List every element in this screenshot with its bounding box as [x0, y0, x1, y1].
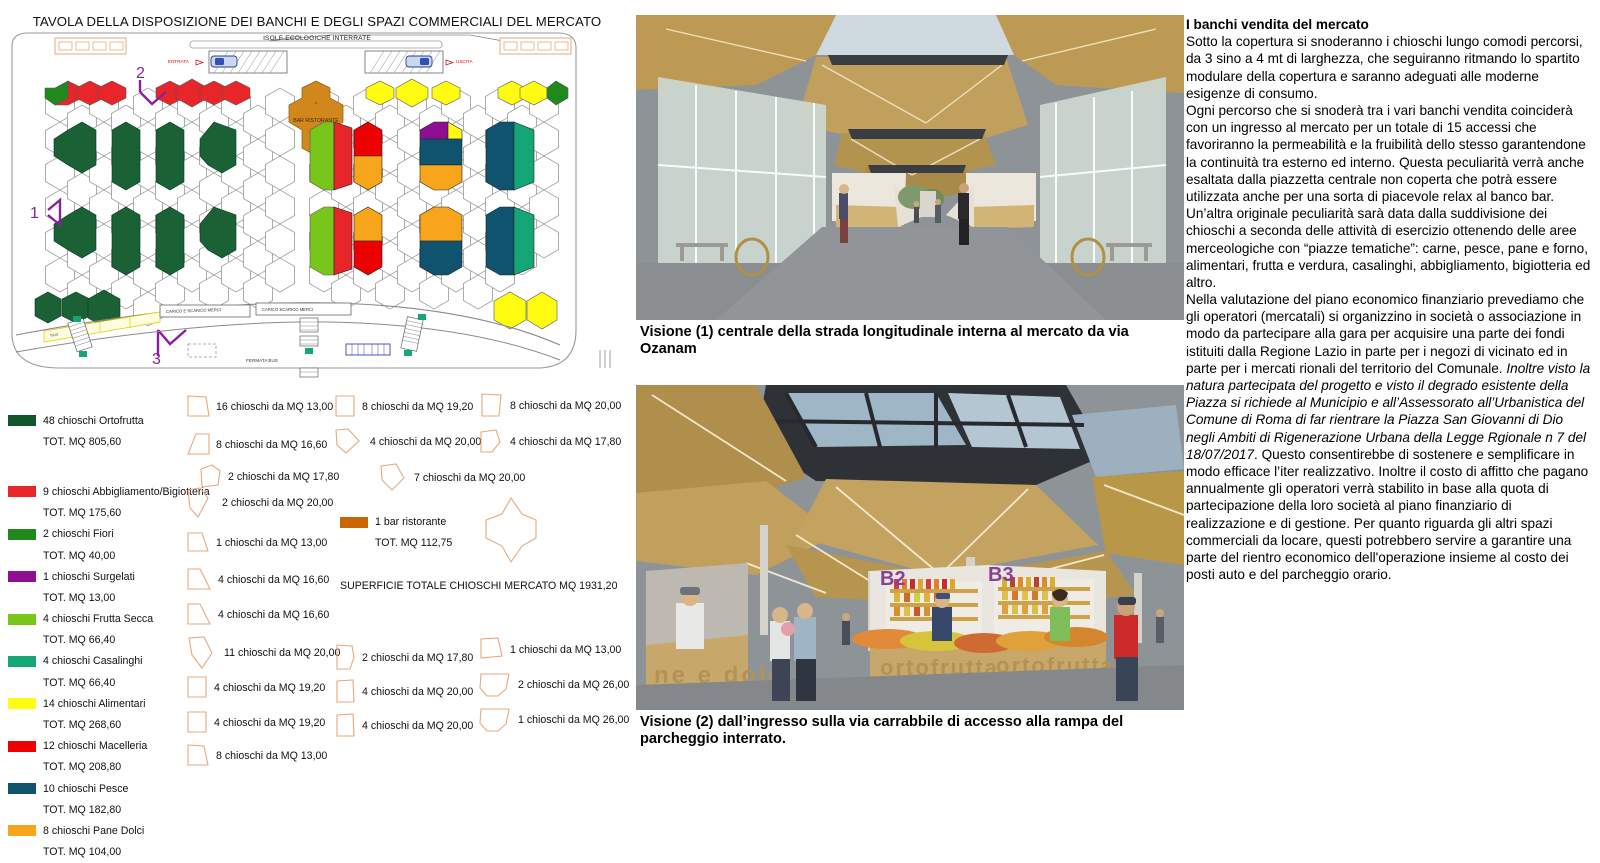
kiosk-cluster-macelleria-pane-1: [354, 122, 382, 190]
legend-total: TOT. MQ 66,40: [8, 672, 188, 693]
legend-item: 4 chioschi Casalinghi: [8, 651, 188, 672]
shape-entry-a4: 4 chioschi da MQ 16,60: [186, 567, 329, 593]
person-figure-far: [1156, 609, 1164, 643]
shape-label: 8 chioschi da MQ 19,20: [362, 401, 473, 413]
shape-label: 8 chioschi da MQ 16,60: [216, 439, 327, 451]
section-marker-3-label: 3: [152, 351, 161, 368]
legend-label: 14 chioschi Alimentari: [43, 698, 145, 710]
area-tratteggiata: [188, 344, 216, 357]
legend-label: 9 chioschi Abbigliamento/Bigiotteria: [43, 486, 210, 498]
shape-label: 4 chioschi da MQ 16,60: [218, 609, 329, 621]
legend-item: 2 chioschi Fiori: [8, 524, 188, 545]
color-swatch-casalinghi: [8, 656, 36, 667]
shape-label: 2 chioschi da MQ 20,00: [222, 497, 333, 509]
person-figure: [914, 201, 920, 223]
color-swatch-fiori: [8, 529, 36, 540]
rampa-entrata: ENTRATA: [168, 51, 287, 73]
legend-total: TOT. MQ 175,60: [8, 503, 188, 524]
shape-label: 1 chioschi da MQ 26,00: [518, 714, 629, 726]
pensilina-bus: [346, 344, 390, 355]
legend-total: TOT. MQ 13,00: [8, 587, 188, 608]
legend-item: 9 chioschi Abbigliamento/Bigiotteria: [8, 481, 188, 502]
shape-label: 2 chioschi da MQ 17,80: [362, 652, 473, 664]
legend-total: TOT. MQ 40,00: [8, 545, 188, 566]
section-marker-2-label: 2: [136, 65, 145, 82]
section-marker-3: [158, 330, 186, 356]
shape-label: 4 chioschi da MQ 20,00: [362, 686, 473, 698]
article-paragraph-2: Ogni percorso che si snoderà tra i vari …: [1186, 102, 1592, 291]
kiosk-cluster-surgelati-pesce-1: [420, 122, 462, 190]
color-swatch-surgelati: [8, 571, 36, 582]
legend-total: TOT. MQ 182,80: [8, 799, 188, 820]
color-swatch-macelleria: [8, 741, 36, 752]
section-marker-1-label: 1: [30, 205, 39, 222]
shape-entry-a7: 4 chioschi da MQ 19,20: [186, 675, 325, 701]
superficie-totale-label: SUPERFICIE TOTALE CHIOSCHI MERCATO MQ 19…: [340, 580, 617, 592]
color-swatch-abbigliamento: [8, 486, 36, 497]
shape-label: 8 chioschi da MQ 13,00: [216, 750, 327, 762]
svg-text:ENTRATA: ENTRATA: [168, 59, 190, 64]
shape-label: 7 chioschi da MQ 20,00: [414, 472, 525, 484]
color-swatch-pesce: [8, 783, 36, 794]
color-swatch-pane-dolci: [8, 825, 36, 836]
shape-label: 4 chioschi da MQ 17,80: [510, 436, 621, 448]
shape-label: 11 chioschi da MQ 20,00: [224, 647, 340, 659]
shape-entry-a6: 11 chioschi da MQ 20,00: [186, 635, 340, 671]
scala-est: [401, 314, 426, 356]
renderings-panel: Visione (1) centrale della strada longit…: [636, 0, 1186, 800]
svg-text:USCITA: USCITA: [456, 59, 473, 64]
shape-entry-c0: 8 chioschi da MQ 20,00: [478, 392, 621, 420]
kiosk-cluster-alimentari-se: [494, 292, 557, 329]
legend-label: 8 chioschi Pane Dolci: [43, 825, 144, 837]
person-figure-far: [842, 613, 850, 645]
sign-b2: B2: [880, 568, 906, 590]
article-panel: I banchi vendita del mercato Sotto la co…: [1186, 16, 1592, 583]
svg-text:CARICO SCARICO MERCI: CARICO SCARICO MERCI: [262, 307, 313, 312]
shape-label: 4 chioschi da MQ 20,00: [362, 720, 473, 732]
rendering-image-1: [636, 15, 1184, 320]
legend-label: 12 chioschi Macelleria: [43, 740, 147, 752]
legend-item: 10 chioschi Pesce: [8, 778, 188, 799]
legend-total: TOT. MQ 104,00: [8, 842, 188, 863]
article-p3-part-b: . Questo consentirebbe di sostenere e se…: [1186, 447, 1588, 582]
shape-label: 4 chioschi da MQ 19,20: [214, 717, 325, 729]
shape-entry-b2: 2 chioschi da MQ 17,80: [198, 463, 339, 491]
article-paragraph-3: Nella valutazione del piano economico fi…: [1186, 291, 1592, 583]
shape-label: 16 chioschi da MQ 13,00: [216, 401, 333, 413]
kiosk-cluster-pane-pesce-2: [420, 207, 462, 275]
isola-ecologica-ovest: [55, 38, 126, 54]
kiosk-cluster-fruttasecca-red-1: [310, 122, 352, 190]
legend-label: 4 chioschi Frutta Secca: [43, 613, 153, 625]
legend-item: 12 chioschi Macelleria: [8, 736, 188, 757]
shape-entry-a9: 8 chioschi da MQ 13,00: [186, 743, 327, 769]
shape-entry-a1: 8 chioschi da MQ 16,60: [186, 432, 327, 458]
legend-label: 1 bar ristorante: [375, 516, 446, 528]
shape-entry-b0: 8 chioschi da MQ 19,20: [334, 394, 473, 420]
color-swatch-ortofrutta: [8, 415, 36, 426]
shape-label: 4 chioschi da MQ 19,20: [214, 682, 325, 694]
shape-entry-a0: 16 chioschi da MQ 13,00: [186, 394, 333, 420]
kiosk-cluster-fruttasecca-red-2: [310, 207, 352, 275]
color-swatch-frutta-secca: [8, 614, 36, 625]
sign-b3: B3: [988, 564, 1014, 586]
scala-centrale: [300, 318, 318, 377]
shape-entry-c1: 4 chioschi da MQ 17,80: [478, 428, 621, 456]
legend-item: 48 chioschi Ortofrutta: [8, 410, 188, 431]
legend-total-bar: TOT. MQ 112,75: [375, 537, 452, 549]
shape-entry-b5: 4 chioschi da MQ 20,00: [334, 712, 473, 740]
legend-panel: 48 chioschi Ortofrutta TOT. MQ 805,60 9 …: [0, 390, 634, 800]
shape-label: 8 chioschi da MQ 20,00: [510, 400, 621, 412]
kiosk-cluster-pesce-casalinghi-2: [486, 207, 534, 275]
shape-entry-a2: 2 chioschi da MQ 20,00: [186, 486, 333, 520]
isola-ecologica-est: [500, 38, 571, 54]
shape-label: 1 chioschi da MQ 13,00: [510, 644, 621, 656]
rampa-uscita: USCITA: [365, 51, 473, 73]
article-heading: I banchi vendita del mercato: [1186, 16, 1592, 33]
legend-item: 1 chioschi Surgelati: [8, 566, 188, 587]
rendering-1-caption: Visione (1) centrale della strada longit…: [640, 324, 1185, 358]
shape-label: 2 chioschi da MQ 17,80: [228, 471, 339, 483]
legend-label: 1 chioschi Surgelati: [43, 571, 135, 583]
legend-categories: 48 chioschi Ortofrutta TOT. MQ 805,60 9 …: [8, 410, 188, 863]
shape-label: 4 chioschi da MQ 16,60: [218, 574, 329, 586]
legend-item: 4 chioschi Frutta Secca: [8, 609, 188, 630]
shape-label: 1 chioschi da MQ 13,00: [216, 537, 327, 549]
legend-item: 14 chioschi Alimentari: [8, 693, 188, 714]
shape-label: 4 chioschi da MQ 20,00: [370, 436, 481, 448]
shape-entry-b3: 2 chioschi da MQ 17,80: [334, 643, 473, 673]
shape-entry-a8: 4 chioschi da MQ 19,20: [186, 710, 325, 736]
shape-entry-c2: 7 chioschi da MQ 20,00: [378, 462, 525, 494]
legend-item-bar-ristorante: 1 bar ristorante: [340, 516, 446, 528]
shape-entry-a3: 1 chioschi da MQ 13,00: [186, 531, 327, 555]
legend-label: 4 chioschi Casalinghi: [43, 655, 143, 667]
shape-entry-b4: 4 chioschi da MQ 20,00: [334, 678, 473, 706]
legend-label: 48 chioschi Ortofrutta: [43, 415, 144, 427]
fermata-bus-label: FERMATA BUS: [246, 358, 278, 363]
plan-panel: TAVOLA DELLA DISPOSIZIONE DEI BANCHI E D…: [0, 0, 634, 800]
legend-item: 8 chioschi Pane Dolci: [8, 820, 188, 841]
kiosk-cluster-pesce-casalinghi-1: [486, 122, 534, 190]
shape-label: 2 chioschi da MQ 26,00: [518, 679, 629, 691]
legend-total: TOT. MQ 208,80: [8, 757, 188, 778]
shape-entry-c3: 1 chioschi da MQ 13,00: [478, 636, 621, 664]
shape-entry-c4: 2 chioschi da MQ 26,00: [478, 671, 629, 699]
legend-label: 10 chioschi Pesce: [43, 783, 128, 795]
presentation-board: TAVOLA DELLA DISPOSIZIONE DEI BANCHI E D…: [0, 0, 1600, 800]
shape-entry-c5: 1 chioschi da MQ 26,00: [478, 706, 629, 734]
legend-total: TOT. MQ 805,60: [8, 431, 188, 452]
legend-label: 2 chioschi Fiori: [43, 528, 114, 540]
article-paragraph-1: Sotto la copertura si snoderanno i chios…: [1186, 33, 1592, 102]
color-swatch-bar-ristorante: [340, 517, 368, 528]
person-figure-vendor-right: [1050, 589, 1070, 641]
rendering-image-2: ne e dolci: [636, 385, 1184, 710]
market-layout-plan: ENTRATA USCITA: [0, 0, 634, 390]
person-figure: [935, 199, 941, 223]
nord-bar-right: [600, 350, 610, 368]
legend-total: TOT. MQ 268,60: [8, 714, 188, 735]
shape-entry-bar-cross: [480, 494, 542, 566]
shape-entry-b1: 4 chioschi da MQ 20,00: [334, 427, 481, 457]
shape-entry-a5: 4 chioschi da MQ 16,60: [186, 602, 329, 628]
color-swatch-alimentari: [8, 698, 36, 709]
rendering-2-caption: Visione (2) dall’ingresso sulla via carr…: [640, 714, 1185, 748]
kiosk-cluster-pane-macelleria-2: [354, 207, 382, 275]
legend-total: TOT. MQ 66,40: [8, 630, 188, 651]
